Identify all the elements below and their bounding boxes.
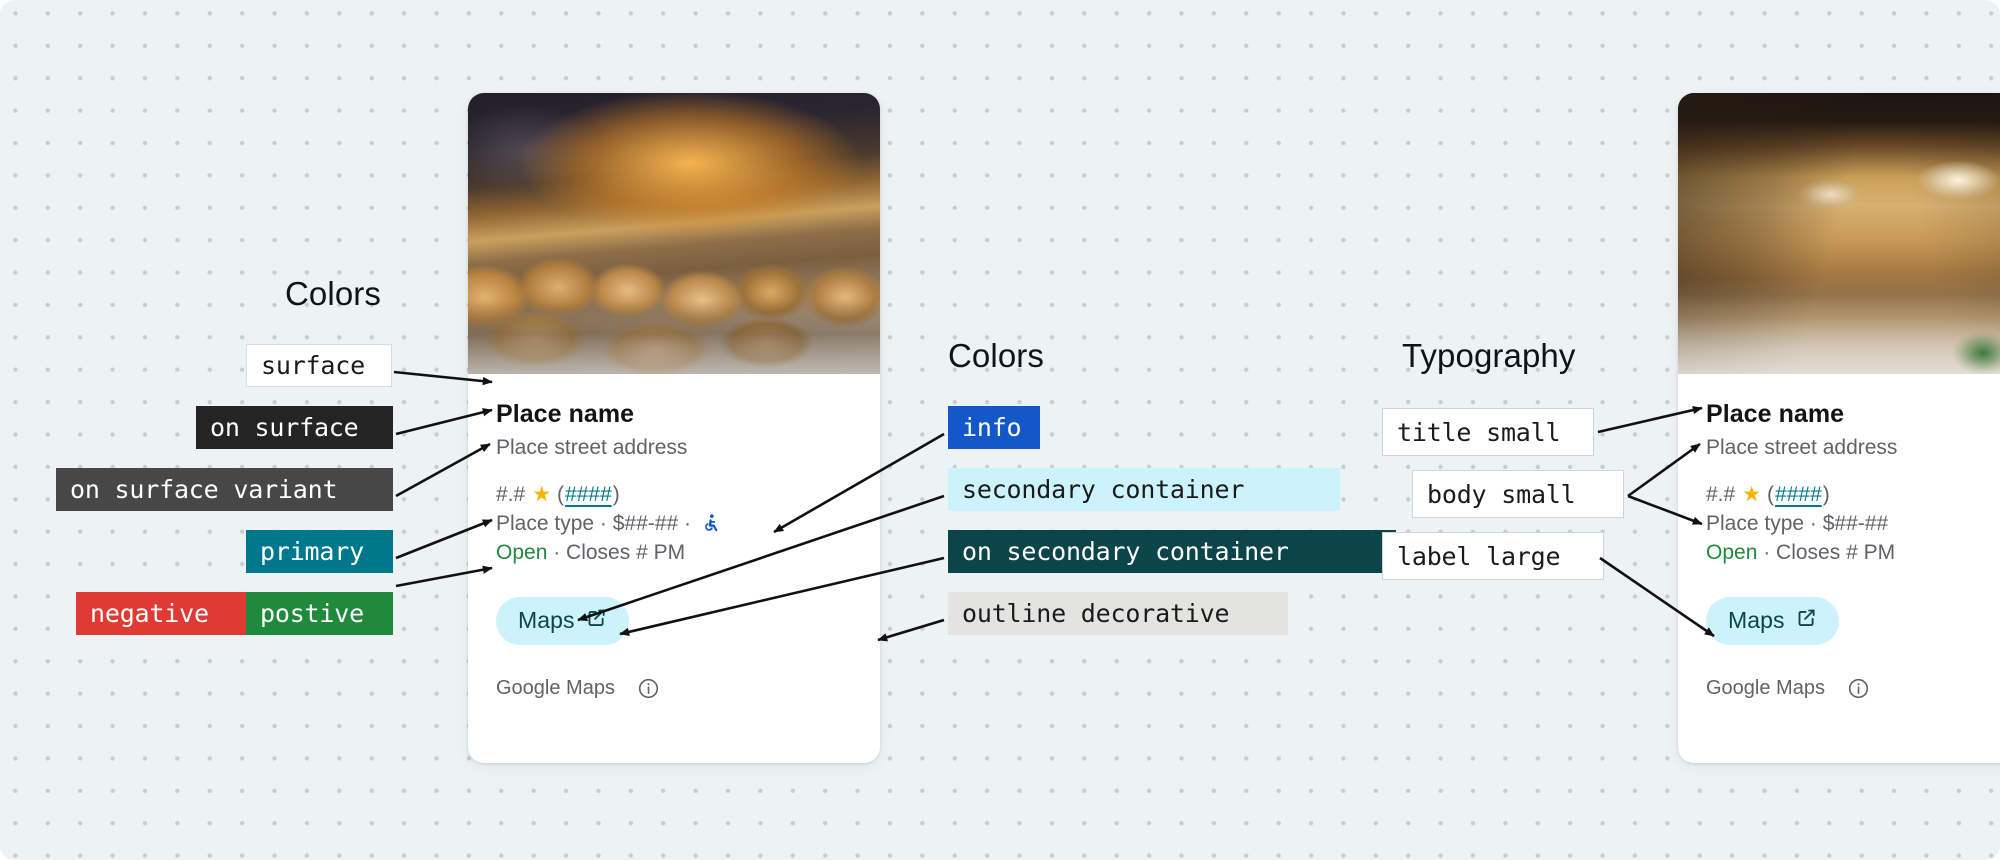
place-type: Place type bbox=[496, 510, 594, 537]
rating-value: #.# bbox=[1706, 481, 1735, 508]
place-card-right[interactable]: Place name Place street address #.# ★ ( … bbox=[1678, 93, 2000, 763]
open-in-new-icon bbox=[586, 607, 607, 634]
color-chip-label: info bbox=[962, 413, 1021, 442]
review-close-paren: ) bbox=[1823, 481, 1830, 508]
type-chip-label: label large bbox=[1397, 542, 1560, 571]
open-status-label: Open bbox=[1706, 541, 1757, 564]
type-chip-body-small[interactable]: body small bbox=[1412, 470, 1624, 518]
section-heading-colors-left: Colors bbox=[285, 275, 381, 313]
maps-button-label: Maps bbox=[1728, 607, 1785, 634]
place-card-left[interactable]: Place name Place street address #.# ★ ( … bbox=[468, 93, 880, 763]
color-chip-label: primary bbox=[260, 537, 364, 566]
color-chip-negative[interactable]: negative bbox=[76, 592, 246, 635]
bakery-pastries-photo bbox=[468, 93, 880, 374]
color-chip-label: on surface variant bbox=[70, 475, 337, 504]
info-circle-icon[interactable] bbox=[1847, 677, 1870, 700]
review-count-link[interactable]: #### bbox=[1775, 481, 1822, 508]
place-title: Place name bbox=[496, 400, 852, 430]
place-rating-row: #.# ★ ( #### ) bbox=[496, 481, 852, 508]
hours-separator: · bbox=[553, 541, 566, 564]
review-open-paren: ( bbox=[557, 481, 564, 508]
color-chip-info[interactable]: info bbox=[948, 406, 1040, 449]
place-card-footer: Google Maps bbox=[1706, 677, 2000, 700]
place-type: Place type bbox=[1706, 510, 1804, 537]
color-chip-on-secondary-container[interactable]: on secondary container bbox=[948, 530, 1396, 573]
info-circle-icon[interactable] bbox=[637, 677, 660, 700]
place-card-body: Place name Place street address #.# ★ ( … bbox=[1678, 374, 2000, 700]
color-chip-label: on secondary container bbox=[962, 537, 1289, 566]
place-rating-row: #.# ★ ( #### ) bbox=[1706, 481, 2000, 508]
place-meta-row: Place type · $##-## bbox=[1706, 510, 2000, 537]
google-maps-attribution: Google Maps bbox=[496, 677, 615, 700]
price-range: $##-## bbox=[1823, 510, 1888, 537]
review-close-paren: ) bbox=[613, 481, 620, 508]
closing-time: Closes # PM bbox=[1776, 541, 1895, 564]
meta-separator-1: · bbox=[1804, 510, 1823, 537]
place-card-body: Place name Place street address #.# ★ ( … bbox=[468, 374, 880, 700]
place-address: Place street address bbox=[1706, 435, 2000, 461]
rating-value: #.# bbox=[496, 481, 525, 508]
open-status-label: Open bbox=[496, 541, 547, 564]
type-chip-label: title small bbox=[1397, 418, 1560, 447]
color-chip-on-surface[interactable]: on surface bbox=[196, 406, 393, 449]
cafe-interior-photo bbox=[1678, 93, 2000, 374]
color-chip-secondary-container[interactable]: secondary container bbox=[948, 468, 1340, 511]
review-count-link[interactable]: #### bbox=[565, 481, 612, 508]
maps-button-label: Maps bbox=[518, 607, 575, 634]
color-chip-label: postive bbox=[260, 599, 364, 628]
price-range: $##-## bbox=[613, 510, 678, 537]
color-chip-label: negative bbox=[90, 599, 209, 628]
section-heading-typography: Typography bbox=[1402, 337, 1575, 375]
color-chip-label: outline decorative bbox=[962, 599, 1229, 628]
type-chip-title-small[interactable]: title small bbox=[1382, 408, 1594, 456]
annotation-board: Colors Colors Typography surface on surf… bbox=[0, 0, 2000, 860]
color-chip-surface[interactable]: surface bbox=[246, 344, 392, 387]
place-hours-row: Open · Closes # PM bbox=[1706, 539, 2000, 566]
maps-button[interactable]: Maps bbox=[1706, 597, 1839, 645]
place-address: Place street address bbox=[496, 435, 852, 461]
section-heading-colors-middle: Colors bbox=[948, 337, 1044, 375]
color-chip-outline-decorative[interactable]: outline decorative bbox=[948, 592, 1288, 635]
color-chip-primary[interactable]: primary bbox=[246, 530, 393, 573]
type-chip-label: body small bbox=[1427, 480, 1576, 509]
review-open-paren: ( bbox=[1767, 481, 1774, 508]
type-chip-label-large[interactable]: label large bbox=[1382, 532, 1604, 580]
color-chip-label: surface bbox=[261, 351, 365, 380]
color-chip-positive[interactable]: postive bbox=[246, 592, 393, 635]
star-icon: ★ bbox=[1742, 481, 1761, 508]
color-chip-label: secondary container bbox=[962, 475, 1244, 504]
closing-time: Closes # PM bbox=[566, 541, 685, 564]
wheelchair-accessible-icon bbox=[700, 513, 721, 534]
arrow-outline-decorative bbox=[878, 620, 944, 640]
place-meta-row: Place type · $##-## · bbox=[496, 510, 852, 537]
color-chip-on-surface-variant[interactable]: on surface variant bbox=[56, 468, 393, 511]
color-chip-label: on surface bbox=[210, 413, 359, 442]
open-in-new-icon bbox=[1796, 607, 1817, 634]
place-hours-row: Open · Closes # PM bbox=[496, 539, 852, 566]
meta-separator-2: · bbox=[678, 510, 691, 537]
hours-separator: · bbox=[1763, 541, 1776, 564]
google-maps-attribution: Google Maps bbox=[1706, 677, 1825, 700]
star-icon: ★ bbox=[532, 481, 551, 508]
meta-separator-1: · bbox=[594, 510, 613, 537]
place-card-footer: Google Maps bbox=[496, 677, 852, 700]
place-title: Place name bbox=[1706, 400, 2000, 430]
maps-button[interactable]: Maps bbox=[496, 597, 629, 645]
